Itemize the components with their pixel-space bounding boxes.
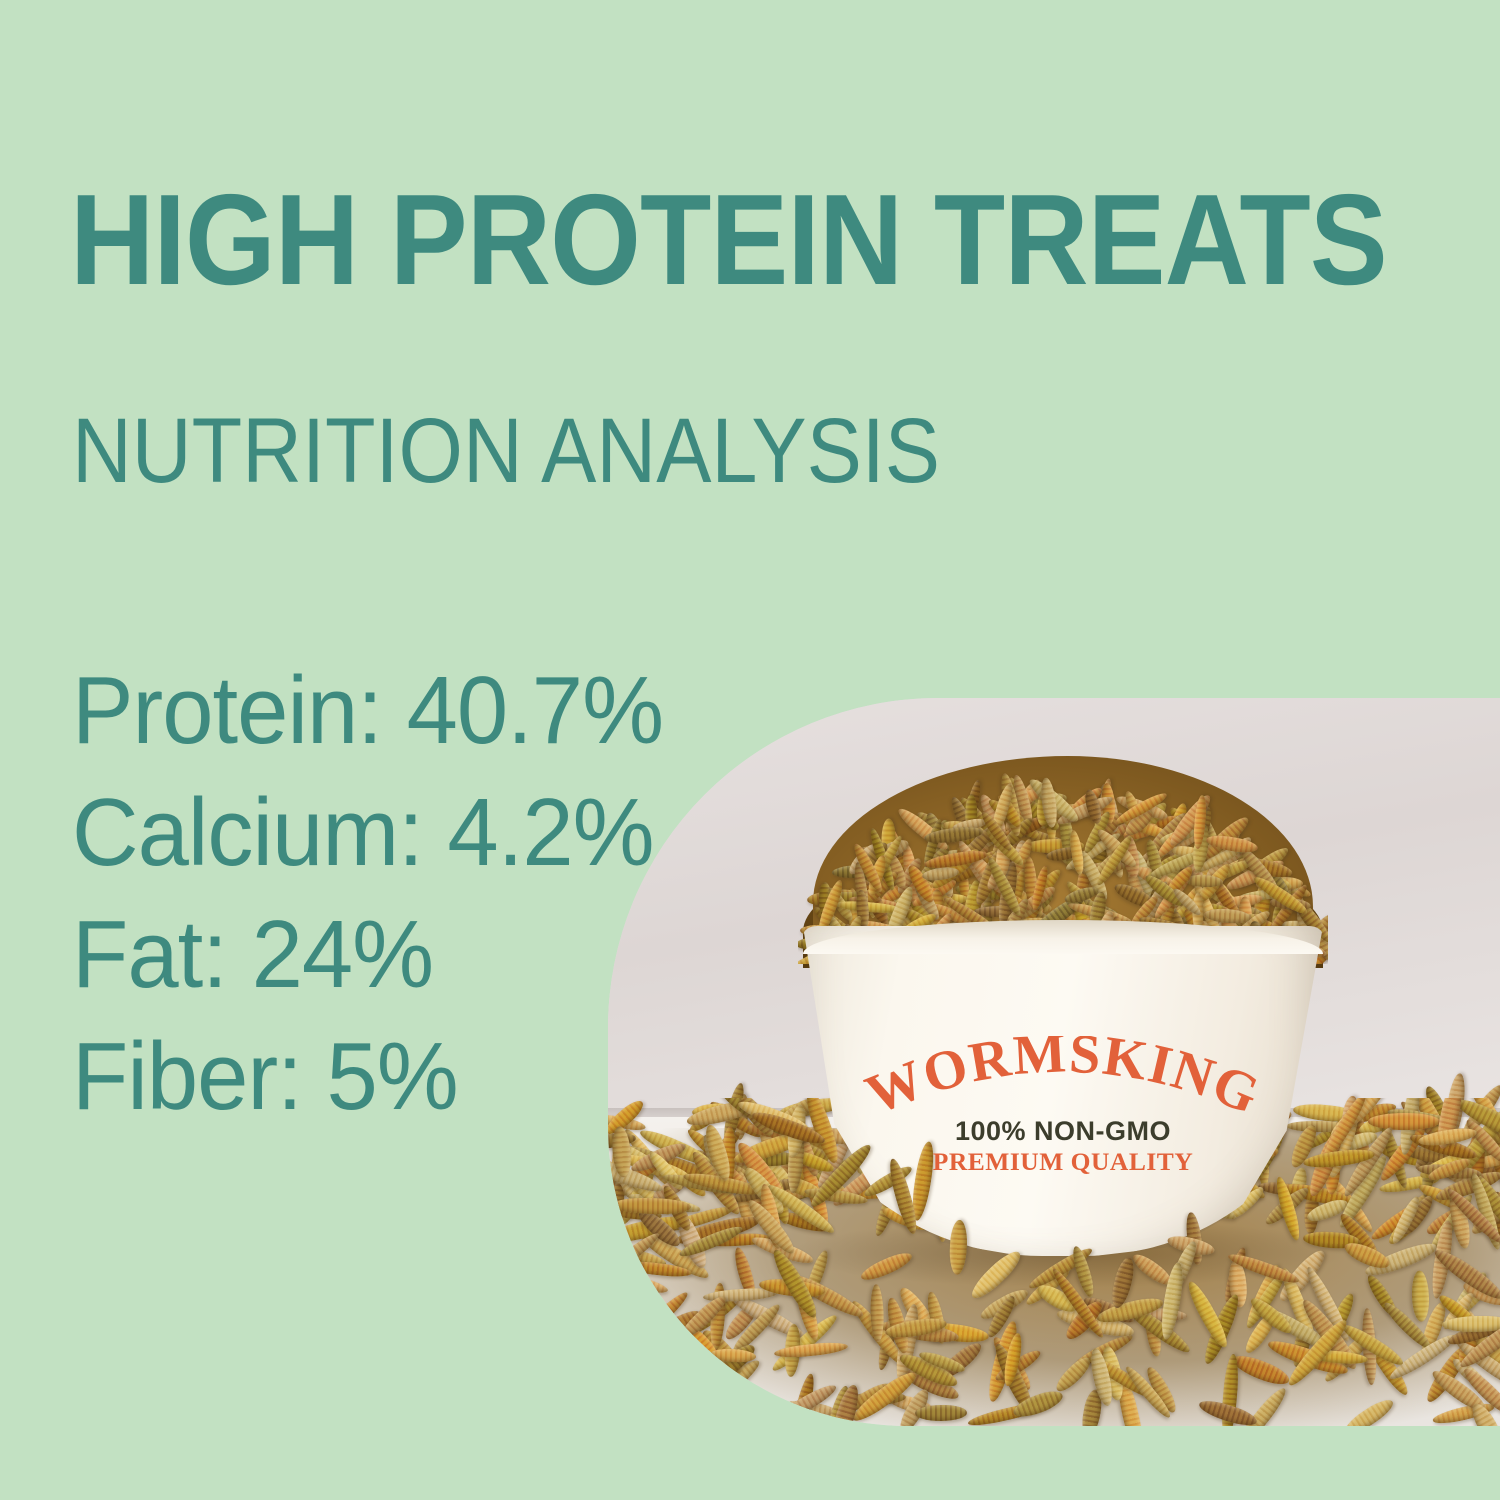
larva [870,1284,885,1343]
larva [1411,1270,1429,1322]
larva [1389,1194,1423,1246]
larva [949,1220,969,1275]
larva [858,1248,915,1284]
nutrition-row-fat: Fat: 24% [72,894,686,1016]
larva [608,1388,645,1426]
product-photo: WORMSKING 100% NON-GMO PREMIUM QUALITY [608,698,1500,1426]
larva [1368,1113,1440,1130]
nutrition-row-calcium: Calcium: 4.2% [72,772,686,894]
larva [806,1140,876,1212]
larva [1441,1316,1500,1334]
larvae-scatter-front [608,1098,1500,1426]
page-subtitle: NUTRITION ANALYSIS [72,405,940,497]
nutrition-row-fiber: Fiber: 5% [72,1016,686,1138]
product-infographic: HIGH PROTEIN TREATS NUTRITION ANALYSIS P… [0,0,1500,1500]
nutrition-row-protein: Protein: 40.7% [72,650,686,772]
larva [1341,1395,1397,1426]
larva [915,1405,967,1421]
page-title: HIGH PROTEIN TREATS [70,176,1387,305]
